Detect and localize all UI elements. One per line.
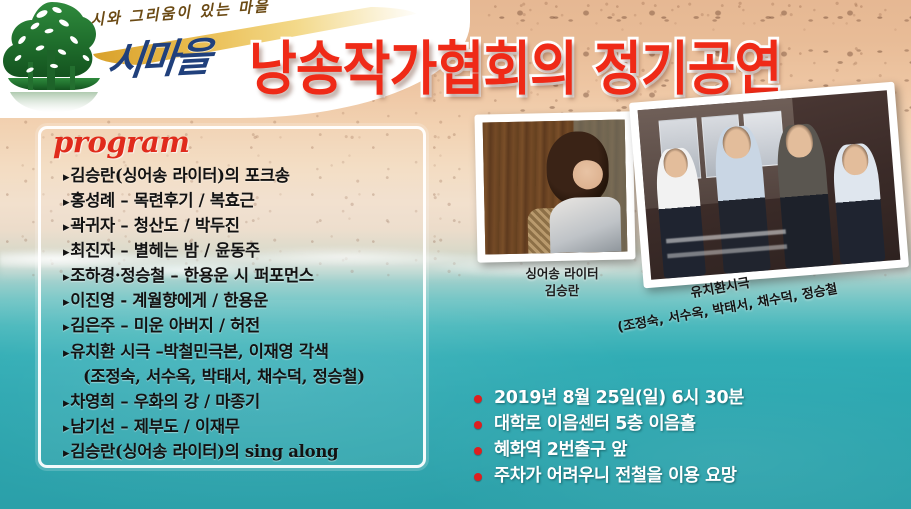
program-item-label: 홍성례 – 목련후기 / 복효근 (70, 191, 254, 210)
program-item-label: 최진자 – 별헤는 밤 / 윤동주 (70, 241, 260, 260)
program-item: ▸김승란(싱어송 라이터)의 포크송 (63, 163, 413, 188)
program-item: ▸조하경·정승철 – 한용운 시 퍼포먼스 (63, 263, 413, 288)
program-item: ▸김은주 – 미운 아버지 / 허전 (63, 313, 413, 338)
program-bullet-icon: ▸ (63, 195, 69, 210)
performer-shape (831, 142, 885, 264)
program-item: ▸차영희 – 우화의 강 / 마종기 (63, 389, 413, 414)
program-item-label: 김은주 – 미운 아버지 / 허전 (70, 316, 260, 335)
program-bullet-icon: ▸ (63, 396, 69, 411)
program-bullet-icon: ▸ (63, 295, 69, 310)
program-bullet-icon: ▸ (63, 220, 69, 235)
program-item: ▸최진자 – 별헤는 밤 / 윤동주 (63, 238, 413, 263)
event-detail-item: 주차가 어려우니 전철을 이용 요망 (472, 464, 744, 490)
program-item: ▸유치환 시극 –박철민극본, 이재영 각색 (63, 339, 413, 364)
program-panel: program ▸김승란(싱어송 라이터)의 포크송▸홍성례 – 목련후기 / … (38, 126, 426, 468)
program-item-label: 김승란(싱어송 라이터)의 sing along (70, 442, 338, 461)
photo-caption-left-line1: 싱어송 라이터 (487, 266, 637, 283)
photo-caption-left: 싱어송 라이터 김승란 (487, 266, 637, 299)
event-detail-item: 혜화역 2번출구 앞 (472, 438, 744, 464)
photo-singer-songwriter (474, 111, 635, 262)
program-item-label: 김승란(싱어송 라이터)의 포크송 (70, 166, 289, 185)
program-list: ▸김승란(싱어송 라이터)의 포크송▸홍성례 – 목련후기 / 복효근▸곽귀자 … (63, 163, 413, 464)
program-item: ▸곽귀자 – 청산도 / 박두진 (63, 213, 413, 238)
program-bullet-icon: ▸ (63, 320, 69, 335)
program-item-label: 유치환 시극 –박철민극본, 이재영 각색 (70, 342, 328, 361)
program-bullet-icon: ▸ (63, 421, 69, 436)
program-bullet-icon: ▸ (63, 270, 69, 285)
person-body-shape (550, 196, 622, 253)
program-bullet-icon: ▸ (63, 446, 69, 461)
program-item: (조정숙, 서수옥, 박태서, 채수덕, 정승철) (63, 364, 413, 389)
page-title: 낭송작가협회의 정기공연 (249, 22, 781, 106)
program-item-label: 차영희 – 우화의 강 / 마종기 (70, 392, 260, 411)
program-bullet-icon: ▸ (63, 346, 69, 361)
event-detail-item: 대학로 이음센터 5층 이음홀 (472, 412, 744, 438)
program-item-label: 이진영 - 계월향에게 / 한용운 (70, 291, 268, 310)
program-heading: program (53, 125, 189, 159)
program-item: ▸남기선 – 제부도 / 이재무 (63, 414, 413, 439)
brand-logo-text: 시마을 (104, 22, 251, 87)
program-item-label: 조하경·정승철 – 한용운 시 퍼포먼스 (70, 266, 314, 285)
program-item-label: 남기선 – 제부도 / 이재무 (70, 417, 239, 436)
program-bullet-icon: ▸ (63, 245, 69, 260)
program-item-label: 곽귀자 – 청산도 / 박두진 (70, 216, 239, 235)
event-poster: 시와 그리움이 있는 마을 시마을 낭송작가협회의 정기공연 program ▸… (0, 0, 911, 509)
event-detail-item: 2019년 8월 25일(일) 6시 30분 (472, 386, 744, 412)
program-bullet-icon: ▸ (63, 170, 69, 185)
program-item: ▸이진영 - 계월향에게 / 한용운 (63, 288, 413, 313)
program-item: ▸김승란(싱어송 라이터)의 sing along (63, 439, 413, 464)
event-details-list: 2019년 8월 25일(일) 6시 30분대학로 이음센터 5층 이음홀혜화역… (472, 386, 744, 490)
brand-logo: 시마을 (108, 26, 248, 94)
program-item: ▸홍성례 – 목련후기 / 복효근 (63, 188, 413, 213)
